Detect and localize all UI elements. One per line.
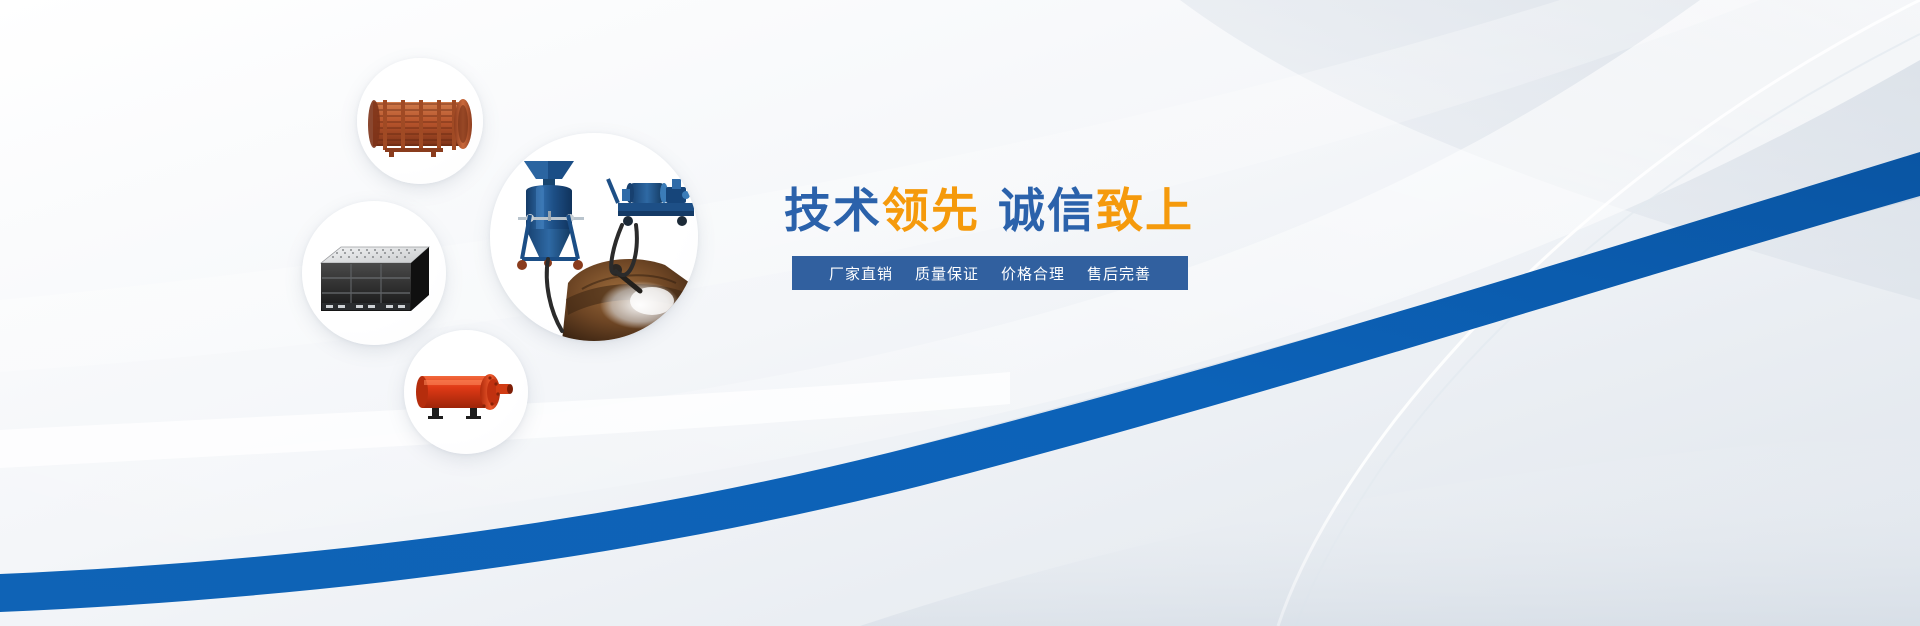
product-circle-tube-bundle[interactable] xyxy=(357,58,483,184)
feature-item-quality-guarantee: 质量保证 xyxy=(915,263,979,284)
red-cooler-image xyxy=(404,330,528,454)
product-circle-sandblast-equipment[interactable] xyxy=(490,133,698,341)
product-circle-plate-cooler[interactable] xyxy=(302,201,446,345)
headline-segment-1: 技术 xyxy=(784,184,882,239)
tube-bundle-image xyxy=(357,58,483,184)
headline-segment-3: 诚信 xyxy=(998,184,1096,239)
feature-item-reasonable-price: 价格合理 xyxy=(1001,263,1065,284)
headline: 技术领先诚信致上 xyxy=(784,188,1194,235)
hero-banner: 技术领先诚信致上 厂家直销 质量保证 价格合理 售后完善 xyxy=(0,0,1920,626)
sandblast-equipment-image xyxy=(490,133,698,341)
feature-bar: 厂家直销 质量保证 价格合理 售后完善 xyxy=(792,256,1188,290)
feature-item-factory-direct: 厂家直销 xyxy=(829,263,893,284)
feature-item-after-sales: 售后完善 xyxy=(1087,263,1151,284)
headline-segment-4: 致上 xyxy=(1096,184,1194,239)
plate-cooler-image xyxy=(302,201,446,345)
headline-segment-2: 领先 xyxy=(882,184,980,239)
blue-swoosh-ribbon xyxy=(0,0,1920,626)
product-circle-red-cooler[interactable] xyxy=(404,330,528,454)
